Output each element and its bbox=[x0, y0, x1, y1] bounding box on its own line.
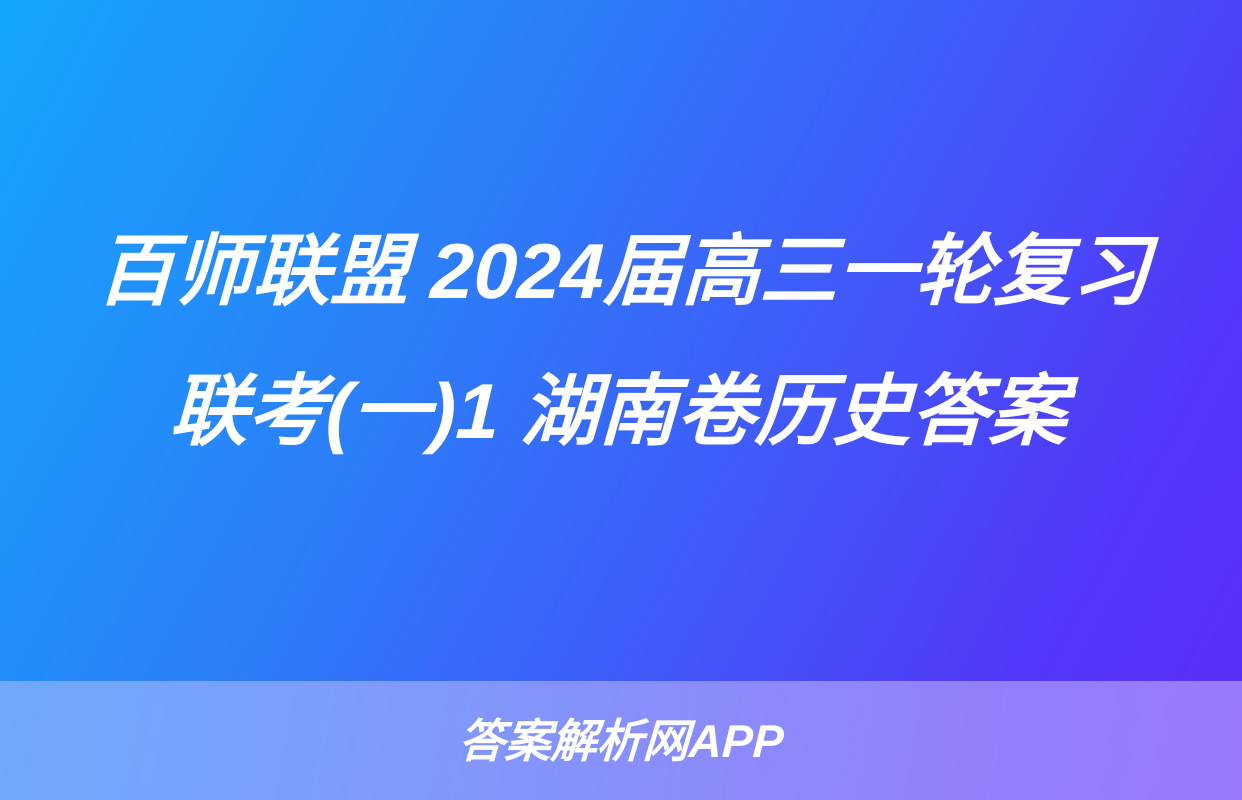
poster-canvas: 百师联盟 2024届高三一轮复习联考(一)1 湖南卷历史答案 答案解析网APP bbox=[0, 0, 1242, 800]
app-watermark-label: 答案解析网APP bbox=[457, 718, 784, 764]
footer-watermark-band: 答案解析网APP bbox=[0, 681, 1242, 800]
title-block: 百师联盟 2024届高三一轮复习联考(一)1 湖南卷历史答案 bbox=[0, 0, 1242, 681]
page-title: 百师联盟 2024届高三一轮复习联考(一)1 湖南卷历史答案 bbox=[65, 201, 1177, 481]
